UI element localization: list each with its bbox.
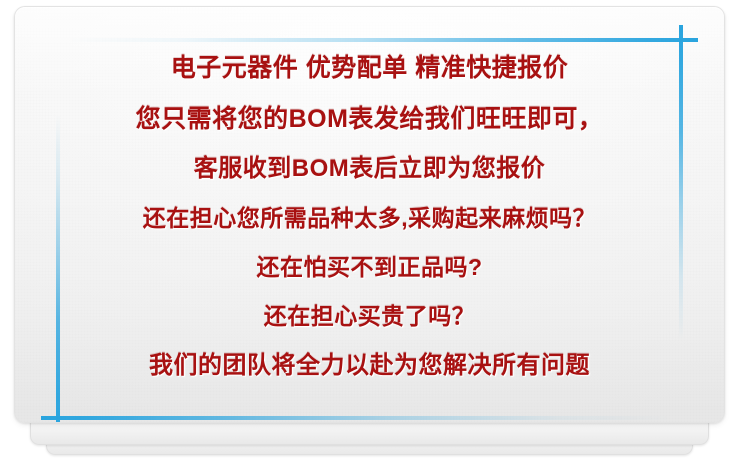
promo-card: 电子元器件 优势配单 精准快捷报价 您只需将您的BOM表发给我们旺旺即可， 客服… xyxy=(14,6,725,423)
banner-line-quote: 客服收到BOM表后立即为您报价 xyxy=(194,157,546,181)
banner-headline: 电子元器件 优势配单 精准快捷报价 xyxy=(171,56,568,81)
banner-line-question-genuine: 还在怕买不到正品吗? xyxy=(256,256,482,279)
banner-line-question-price: 还在担心买贵了吗？ xyxy=(264,305,476,328)
banner-line-question-variety: 还在担心您所需品种太多,采购起来麻烦吗？ xyxy=(143,207,596,230)
banner-line-send-bom: 您只需将您的BOM表发给我们旺旺即可， xyxy=(136,107,604,132)
banner-stage: 电子元器件 优势配单 精准快捷报价 您只需将您的BOM表发给我们旺旺即可， 客服… xyxy=(0,0,737,473)
banner-copy: 电子元器件 优势配单 精准快捷报价 您只需将您的BOM表发给我们旺旺即可， 客服… xyxy=(15,7,724,422)
banner-line-closing-promise: 我们的团队将全力以赴为您解决所有问题 xyxy=(149,354,590,378)
